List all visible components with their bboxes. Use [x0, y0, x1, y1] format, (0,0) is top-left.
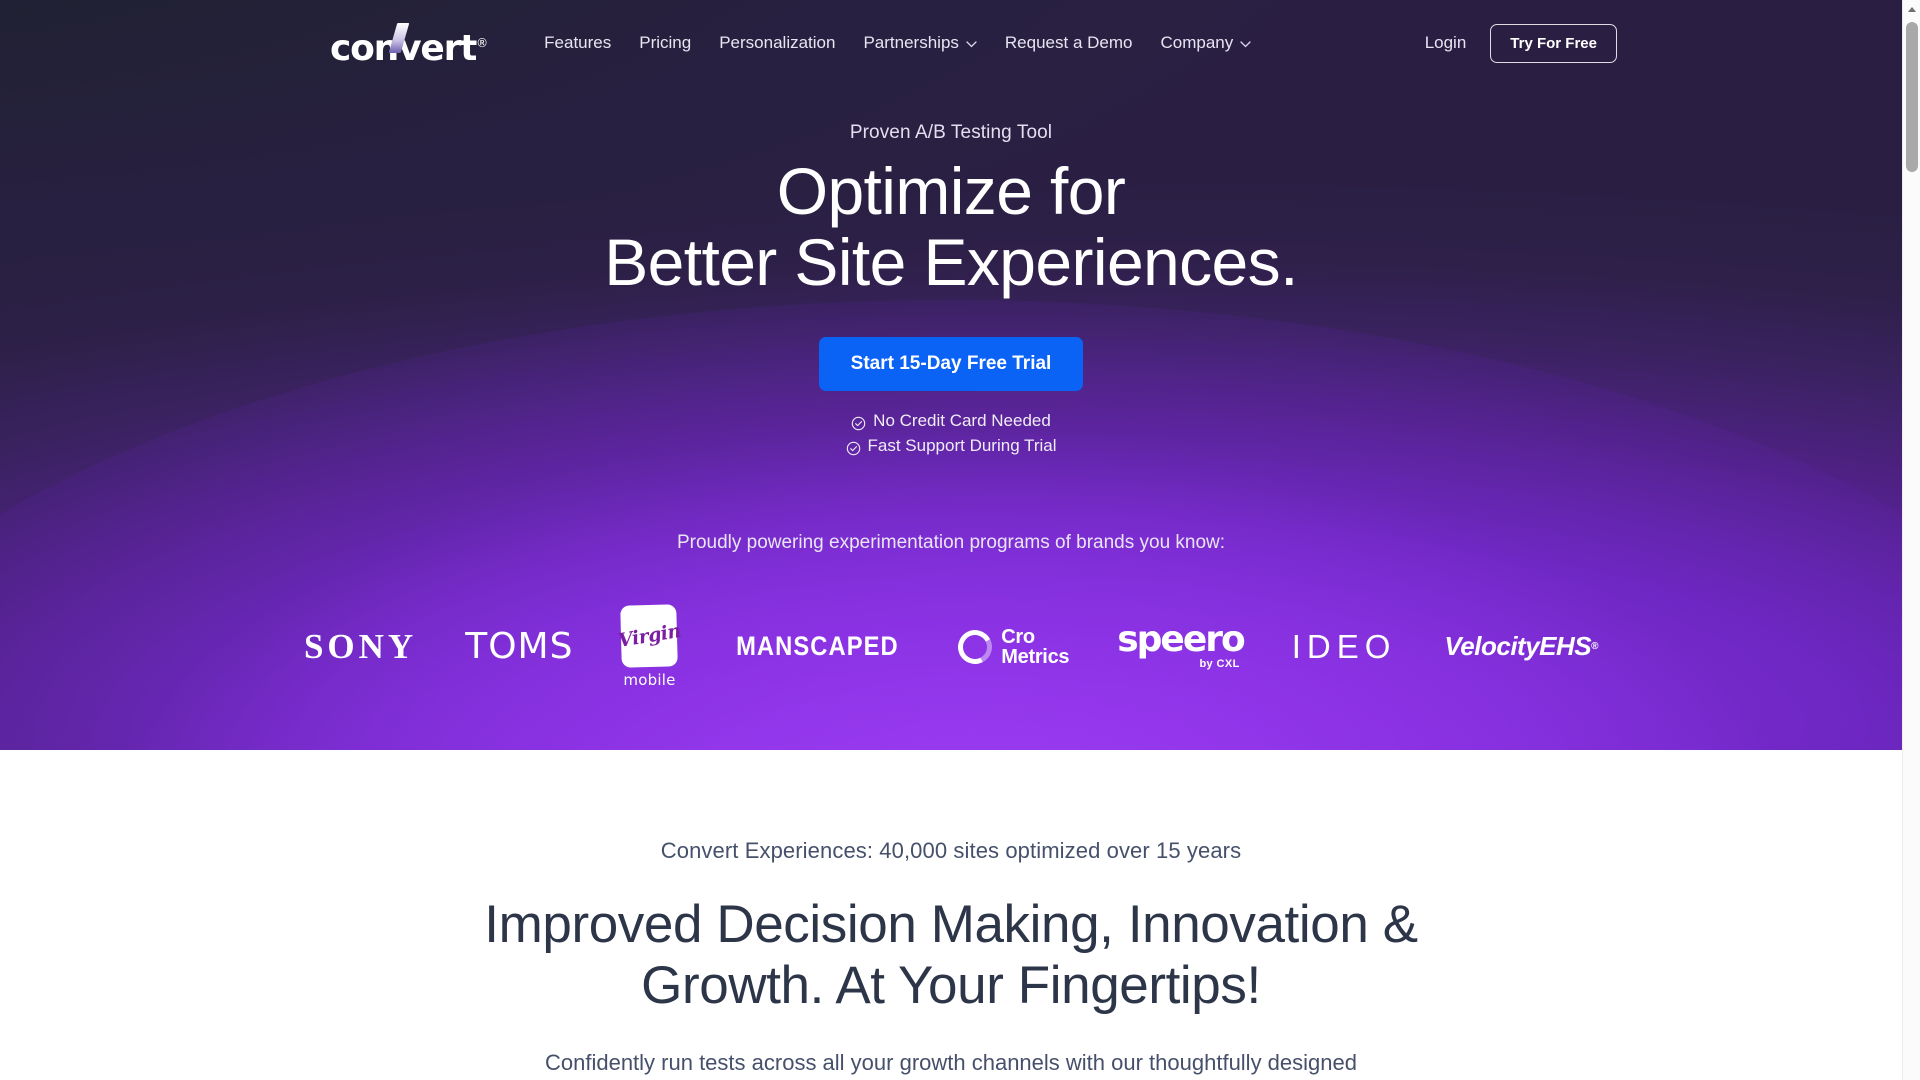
brand-logo-sublabel: by CXL: [1199, 658, 1239, 670]
brand-logo-label: SONY: [304, 627, 417, 667]
chevron-down-icon: [966, 41, 977, 48]
login-link[interactable]: Login: [1421, 27, 1471, 59]
trust-item-label: No Credit Card Needed: [873, 408, 1051, 433]
page-content: convert® Features Pricing Personalizati: [0, 0, 1902, 1080]
nav-item-request-a-demo[interactable]: Request a Demo: [991, 27, 1147, 59]
trust-item: No Credit Card Needed: [0, 408, 1902, 433]
brand-logo-label: Virgin: [617, 619, 683, 651]
brand-logo-label: VelocityEHS: [1444, 631, 1591, 662]
brand-logo-crometrics: Cro Metrics: [934, 601, 1093, 693]
section-heading-line-1: Improved Decision Making, Innovation &: [484, 895, 1417, 954]
crometrics-wordmark: Cro Metrics: [1001, 627, 1069, 667]
chevron-down-icon: [1240, 41, 1251, 48]
hero-trust-list: No Credit Card Needed Fast Support Durin…: [0, 408, 1902, 458]
nav-item-label: Company: [1160, 33, 1233, 53]
circle-ring-icon: [954, 625, 997, 668]
brand-logo-label: TOMS: [465, 626, 573, 667]
section-paragraph-line-1: Confidently run tests across all your gr…: [545, 1050, 1357, 1075]
value-proposition-section: Convert Experiences: 40,000 sites optimi…: [0, 750, 1902, 1080]
brand-logo-label: MANSCAPED: [737, 631, 900, 662]
section-heading: Improved Decision Making, Innovation & G…: [0, 894, 1902, 1017]
hero-section: convert® Features Pricing Personalizati: [0, 0, 1902, 750]
scroll-up-arrow-icon[interactable]: [1903, 0, 1920, 18]
brand-logo-speero: speero by CXL: [1093, 601, 1268, 693]
brands-caption: Proudly powering experimentation program…: [0, 532, 1902, 554]
section-heading-line-2: Growth. At Your Fingertips!: [0, 955, 1902, 1016]
nav-item-partnerships[interactable]: Partnerships: [849, 27, 990, 59]
nav-item-company[interactable]: Company: [1146, 27, 1265, 59]
scrollbar-thumb[interactable]: [1906, 22, 1918, 172]
brand-logo-virgin-mobile: Virgin mobile: [597, 601, 701, 693]
hero-headline-line-1: Optimize for: [777, 154, 1126, 228]
brand-logo-sublabel: ®: [1591, 641, 1598, 652]
main-navigation: convert® Features Pricing Personalizati: [0, 0, 1902, 86]
try-for-free-button[interactable]: Try For Free: [1490, 24, 1617, 63]
section-paragraph: Confidently run tests across all your gr…: [511, 1047, 1391, 1080]
brand-logo-velocityehs: VelocityEHS®: [1420, 601, 1622, 693]
convert-logo[interactable]: convert®: [330, 26, 488, 60]
brand-logo-sublabel: Metrics: [1001, 646, 1069, 668]
trust-item-label: Fast Support During Trial: [868, 433, 1057, 458]
check-circle-icon: [846, 438, 861, 453]
brand-logo-toms: TOMS: [441, 601, 597, 693]
nav-item-personalization[interactable]: Personalization: [705, 27, 849, 59]
logo-wordmark: convert®: [330, 26, 488, 66]
check-circle-icon: [851, 413, 866, 428]
nav-item-features[interactable]: Features: [544, 27, 625, 59]
nav-item-label: Features: [544, 33, 611, 53]
brand-logo-sublabel: mobile: [623, 671, 675, 689]
logo-registered-mark: ®: [476, 36, 488, 50]
brand-logo-label: speero: [1117, 623, 1244, 657]
brand-logos-section: Proudly powering experimentation program…: [0, 532, 1902, 693]
trust-item: Fast Support During Trial: [0, 433, 1902, 458]
nav-item-pricing[interactable]: Pricing: [625, 27, 705, 59]
hero-headline: Optimize for Better Site Experiences.: [0, 156, 1902, 299]
virgin-logo-card: Virgin: [621, 604, 679, 667]
hero-copy: Proven A/B Testing Tool Optimize for Bet…: [0, 122, 1902, 458]
hero-headline-line-2: Better Site Experiences.: [0, 227, 1902, 298]
brand-logo-manscaped: MANSCAPED: [715, 601, 920, 693]
brand-logos-row: SONY TOMS Virgin mobile MANSCAP: [0, 601, 1902, 693]
nav-item-label: Partnerships: [863, 33, 958, 53]
browser-viewport: convert® Features Pricing Personalizati: [0, 0, 1920, 1080]
nav-item-label: Request a Demo: [1005, 33, 1133, 53]
brand-logo-sony: SONY: [280, 601, 441, 693]
nav-links: Features Pricing Personalization Partner…: [544, 27, 1265, 59]
section-kicker: Convert Experiences: 40,000 sites optimi…: [0, 838, 1902, 864]
brand-logo-label: IDEO: [1292, 628, 1397, 666]
nav-actions: Login Try For Free: [1421, 24, 1617, 63]
hero-eyebrow: Proven A/B Testing Tool: [0, 122, 1902, 144]
vertical-scrollbar[interactable]: [1902, 0, 1920, 1080]
nav-item-label: Personalization: [719, 33, 835, 53]
nav-item-label: Pricing: [639, 33, 691, 53]
hero-cta-wrap: Start 15-Day Free Trial: [0, 337, 1902, 391]
brand-logo-label: Cro: [1001, 626, 1035, 648]
start-free-trial-button[interactable]: Start 15-Day Free Trial: [819, 337, 1084, 391]
brand-logo-ideo: IDEO: [1268, 601, 1421, 693]
